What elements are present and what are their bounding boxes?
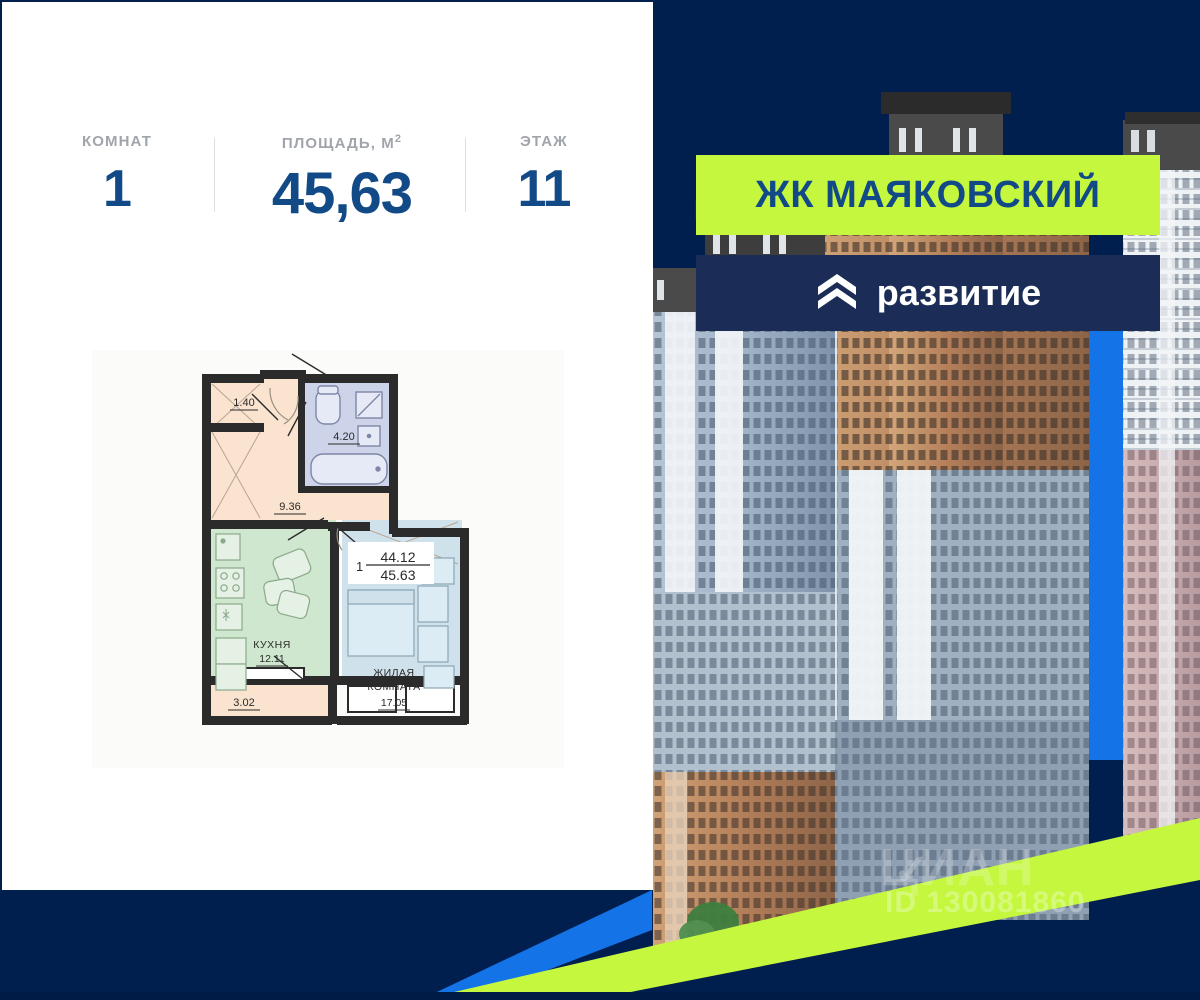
plan-summary-badge: 1 44.12 45.63 <box>348 542 434 584</box>
developer-badge: развитие <box>696 255 1160 331</box>
badge-area-living: 44.12 <box>380 549 415 565</box>
nightstand-icon <box>424 666 454 688</box>
stat-rooms-label: КОМНАТ <box>42 134 192 149</box>
area-bathroom: 4.20 <box>333 431 354 443</box>
stat-area-label: ПЛОЩАДЬ, М2 <box>237 134 447 151</box>
right-promo-panel: ЖК МАЯКОВСКИЙ развитие <box>653 0 1200 1000</box>
stat-floor-value: 11 <box>484 163 604 215</box>
square-meter-superscript: 2 <box>395 133 402 145</box>
sink-kitchen-icon <box>216 604 242 630</box>
armchair-1-icon <box>216 638 246 664</box>
armchair-2-icon <box>216 664 246 690</box>
wardrobe-icon <box>418 586 448 622</box>
stat-rooms: КОМНАТ 1 <box>42 134 192 215</box>
stat-rooms-value: 1 <box>42 163 192 215</box>
label-living-line1: ЖИЛАЯ <box>373 667 414 679</box>
area-living: 17.05 <box>381 697 407 709</box>
floorplan-drawing: 1.40 4.20 9.36 КУХНЯ 12.11 ЖИЛАЯ КОМНАТА… <box>92 350 564 768</box>
toilet-icon <box>316 390 340 424</box>
complex-name-badge: ЖК МАЯКОВСКИЙ <box>696 155 1160 235</box>
area-kitchen: 12.11 <box>259 653 285 665</box>
label-living-line2: КОМНАТА <box>367 681 420 693</box>
area-hallway: 9.36 <box>279 501 300 513</box>
stat-area: ПЛОЩАДЬ, М2 45,63 <box>237 134 447 223</box>
area-balcony-top: 1.40 <box>233 397 254 409</box>
stat-floor: ЭТАЖ 11 <box>484 134 604 215</box>
info-card: КОМНАТ 1 ПЛОЩАДЬ, М2 45,63 ЭТАЖ 11 <box>2 2 653 890</box>
area-balcony-bottom: 3.02 <box>233 697 254 709</box>
chevron-stack-icon <box>815 271 859 315</box>
stat-floor-label: ЭТАЖ <box>484 134 604 149</box>
badge-area-total: 45.63 <box>380 567 415 583</box>
stove-icon <box>216 568 244 598</box>
label-kitchen: КУХНЯ <box>253 639 291 651</box>
badge-rooms: 1 <box>356 559 363 574</box>
stats-row: КОМНАТ 1 ПЛОЩАДЬ, М2 45,63 ЭТАЖ 11 <box>2 134 653 244</box>
buildings-illustration <box>653 0 1200 1000</box>
counter-icon <box>216 534 240 560</box>
stat-divider-2 <box>465 138 466 212</box>
floorplan-container[interactable]: 1.40 4.20 9.36 КУХНЯ 12.11 ЖИЛАЯ КОМНАТА… <box>92 350 564 768</box>
listing-card-image: ЖК МАЯКОВСКИЙ развитие КОМНАТ 1 ПЛОЩАДЬ,… <box>0 0 1200 1000</box>
complex-name-text: ЖК МАЯКОВСКИЙ <box>755 174 1100 217</box>
stat-divider-1 <box>214 138 215 212</box>
developer-name-text: развитие <box>877 272 1041 314</box>
stat-area-value: 45,63 <box>237 165 447 223</box>
blue-stripe-left <box>420 890 652 1000</box>
